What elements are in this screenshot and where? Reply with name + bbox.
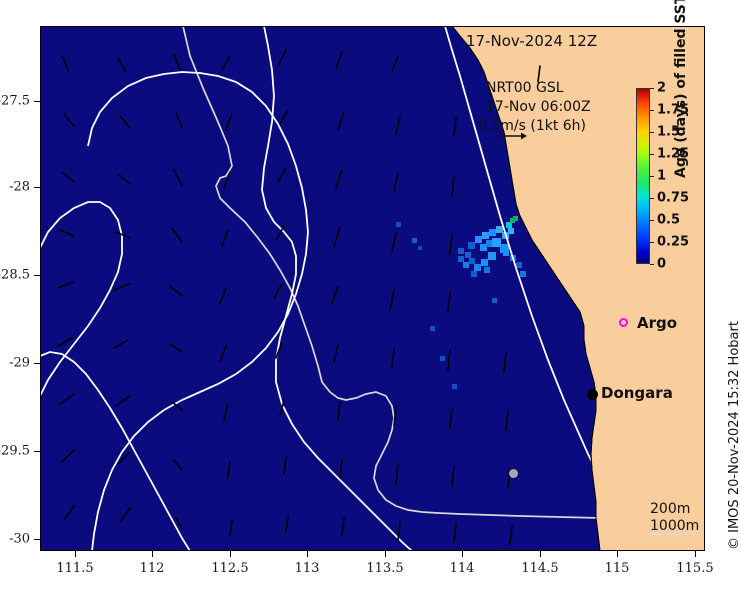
ytick-label--28.5: -28.5 (0, 268, 30, 283)
xtick-label-115.5: 115.5 (676, 561, 713, 576)
credit-label: © IMOS 20-Nov-2024 15:32 Hobart (727, 321, 740, 550)
dongara-marker-icon (587, 389, 598, 400)
depth-key-line-sample (650, 533, 696, 535)
vector-key-product: NRT00 GSL (486, 80, 564, 96)
ytick-label--28: -28 (9, 180, 30, 195)
xtick-label-115: 115 (605, 561, 630, 576)
vector-key-valid-time: 17-Nov 06:00Z (486, 99, 591, 115)
xtick-label-114: 114 (450, 561, 475, 576)
depth-label-1000: 1000m (650, 518, 699, 534)
colorbar-title: Age (days) of filled SST (wrt latest) (673, 0, 689, 178)
ytick-label--29.5: -29.5 (0, 444, 30, 459)
date-stamp-label: 17-Nov-2024 12Z (466, 32, 597, 50)
xtick-label-112: 112 (140, 561, 165, 576)
ytick-label--27.5: -27.5 (0, 94, 30, 109)
depth-key-row-1000: 1000m (650, 515, 699, 532)
ytick-label--29: -29 (9, 356, 30, 371)
xtick-label-114.5: 114.5 (521, 561, 558, 576)
colorbar-tick-0: 0 (657, 257, 666, 272)
depth-key-row-200: 200m (650, 498, 699, 515)
argo-marker-icon (619, 318, 628, 327)
right-arrow-icon (497, 131, 527, 141)
colorbar-tick-0.75: 0.75 (657, 191, 689, 206)
station-marker-icon (509, 469, 518, 478)
figure-root: 17-Nov-2024 12Z NRT00 GSL 17-Nov 06:00Z … (0, 0, 740, 592)
depth-contour-key: 200m 1000m (650, 498, 699, 532)
colorbar-gradient (636, 88, 650, 264)
xtick-label-112.5: 112.5 (211, 561, 248, 576)
vector-key-magnitude: 0.5m/s (1kt 6h) (478, 118, 586, 134)
xtick-label-111.5: 111.5 (56, 561, 93, 576)
map-plot-area[interactable] (40, 26, 705, 551)
xtick-label-113: 113 (295, 561, 320, 576)
argo-legend-label: Argo (637, 314, 677, 332)
colorbar-tick-2: 2 (657, 81, 666, 96)
ytick-label--30: -30 (9, 532, 30, 547)
xtick-label-113.5: 113.5 (366, 561, 403, 576)
map-canvas (40, 26, 705, 551)
colorbar-tick-0.25: 0.25 (657, 235, 689, 250)
dongara-city-label: Dongara (601, 384, 673, 402)
colorbar-tick-1: 1 (657, 169, 666, 184)
colorbar-tick-0.5: 0.5 (657, 213, 680, 228)
